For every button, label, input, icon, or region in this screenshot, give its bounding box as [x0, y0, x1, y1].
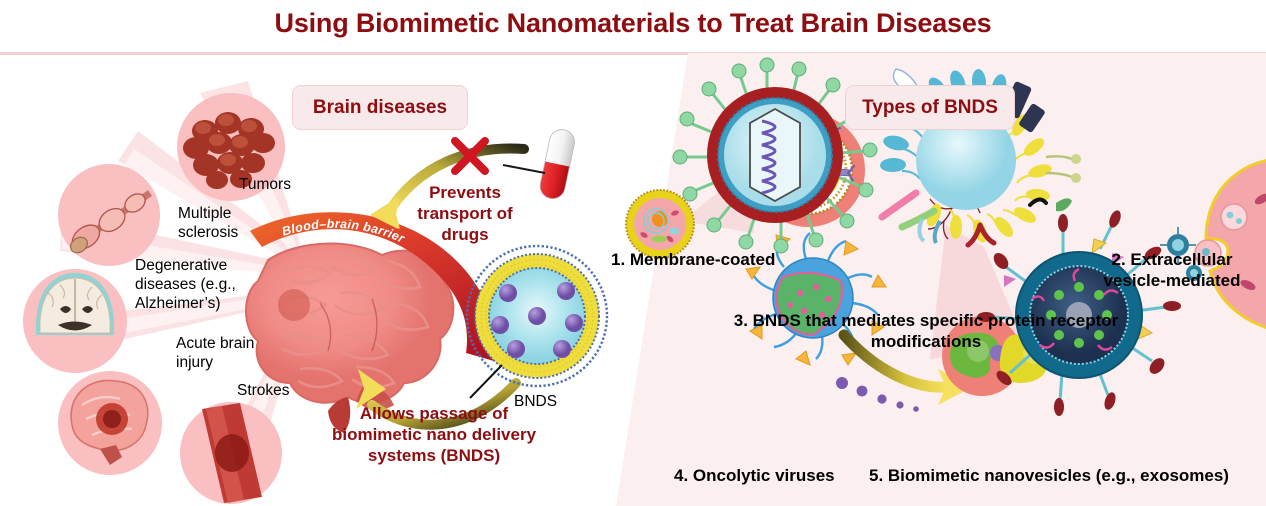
type-label-oncolytic-viruses: 4. Oncolytic viruses — [674, 465, 835, 486]
liposome-nanoparticle-icon — [467, 246, 607, 398]
allows-passage-text: Allows passage ofbiomimetic nano deliver… — [311, 403, 557, 466]
disease-label-acute-brain-injury: Acute braininjury — [176, 334, 254, 372]
disease-label-strokes: Strokes — [237, 381, 290, 400]
disease-label-multiple-sclerosis: Multiplesclerosis — [178, 204, 238, 242]
membrane-coated-nanoparticle-icon — [626, 190, 694, 258]
disease-icon-strokes — [180, 402, 282, 504]
disease-icon-multiple-sclerosis — [58, 164, 160, 266]
types-of-bnds-badge: Types of BNDS — [845, 85, 1015, 130]
disease-icon-acute-brain-injury — [58, 371, 162, 475]
type-label-biomimetic-nanovesicles: 5. Biomimetic nanovesicles (e.g., exosom… — [869, 465, 1229, 486]
type-label-membrane-coated: 1. Membrane-coated — [611, 249, 775, 270]
brain-diseases-badge: Brain diseases — [292, 85, 468, 130]
disease-icon-degenerative — [23, 269, 127, 373]
prevents-transport-text: Preventstransport ofdrugs — [385, 182, 545, 245]
infographic-canvas: Using Biomimetic Nanomaterials to Treat … — [0, 0, 1266, 506]
page-title: Using Biomimetic Nanomaterials to Treat … — [0, 8, 1266, 39]
type-label-extracellular-vesicle: 2. Extracellularvesicle-mediated — [1082, 249, 1262, 291]
type-label-receptor-modifications: 3. BNDS that mediates specific protein r… — [728, 310, 1124, 352]
disease-label-degenerative: Degenerativediseases (e.g.,Alzheimer’s) — [135, 256, 236, 313]
disease-label-tumors: Tumors — [239, 175, 291, 194]
bnds-caption: BNDS — [514, 392, 557, 411]
